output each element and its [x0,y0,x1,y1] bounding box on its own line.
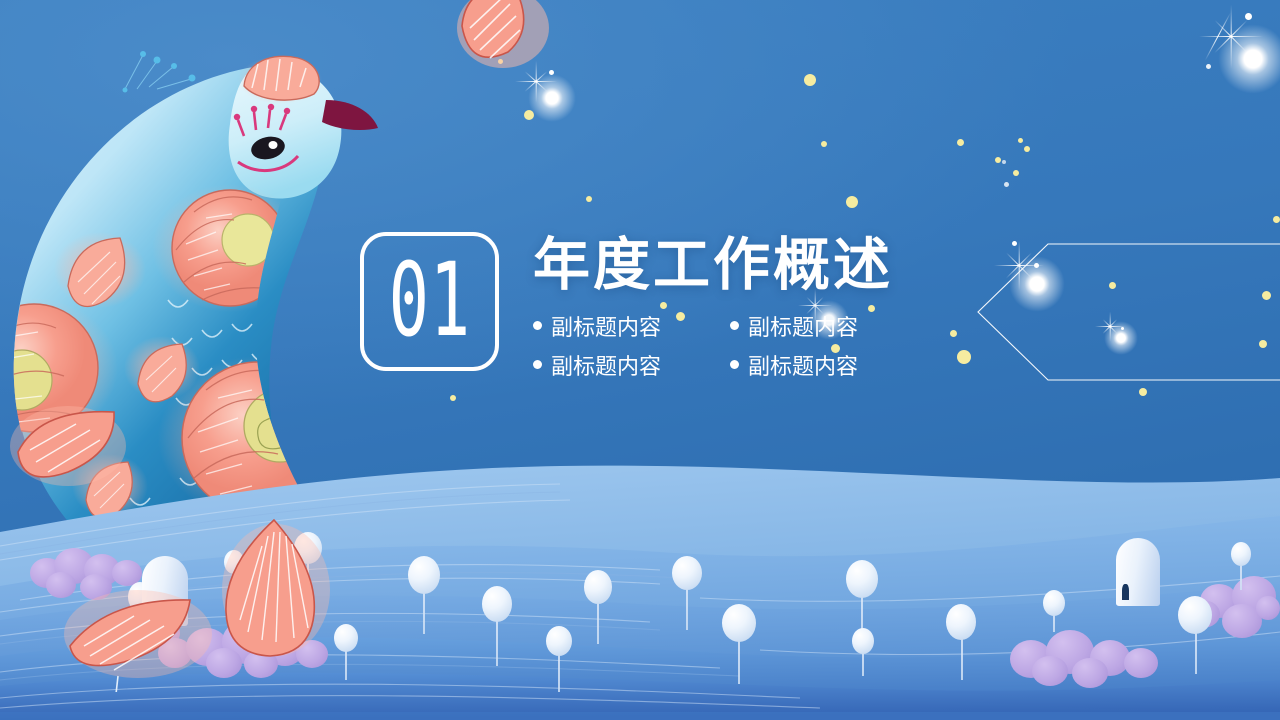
star-dot [846,196,858,208]
star-dot [1013,170,1019,176]
star-dot [957,139,964,146]
page-title: 年度工作概述 [533,236,893,296]
star-dot [1273,216,1280,223]
presentation-slide: 01 年度工作概述 副标题内容 副标题内容 副标题内容 副标 [0,0,1280,720]
list-item: 副标题内容 [730,349,893,381]
list-item: 副标题内容 [533,310,696,342]
bird-crest [238,56,322,104]
ground-petal [58,572,218,692]
sparkle-icon [1196,2,1266,72]
bullet-dot-icon [730,360,739,369]
star-dot [1004,182,1009,187]
blue-hill-landscape [0,460,1280,720]
bullet-dot-icon [730,321,739,330]
section-headline: 01 年度工作概述 副标题内容 副标题内容 副标题内容 副标 [360,232,893,381]
bullet-dot-icon [533,360,542,369]
chevron-outline-decor [960,228,1280,398]
section-number: 01 [388,255,470,348]
star-dot [821,141,827,147]
list-item-label: 副标题内容 [748,310,858,342]
bullet-dot-icon [533,321,542,330]
star-dot [995,157,1001,163]
ground-petal [4,402,134,492]
list-item-label: 副标题内容 [748,349,858,381]
star-dot [1002,160,1006,164]
section-number-badge: 01 [360,232,499,371]
list-item-label: 副标题内容 [551,349,661,381]
ground-petal [212,512,342,662]
list-item-label: 副标题内容 [551,310,661,342]
star-dot [1206,64,1211,69]
star-dot [804,74,816,86]
floating-petal [448,0,558,76]
star-dot [950,330,957,337]
subtitle-list: 副标题内容 副标题内容 副标题内容 副标题内容 [533,310,893,381]
list-item: 副标题内容 [533,349,696,381]
star-dot [1018,138,1023,143]
star-dot [1024,146,1030,152]
list-item: 副标题内容 [730,310,893,342]
